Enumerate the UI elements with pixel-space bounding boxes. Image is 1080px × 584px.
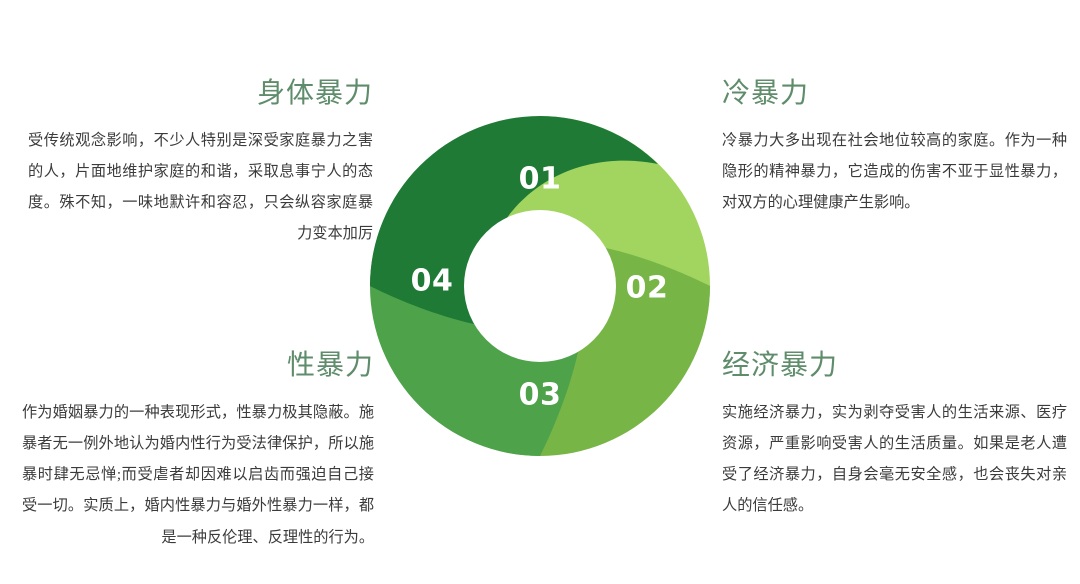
- section-economic-violence-heading: 经济暴力: [722, 348, 1067, 383]
- section-sexual-violence: 性暴力 作为婚姻暴力的一种表现形式，性暴力极其隐蔽。施暴者无一例外地认为婚内性行…: [22, 348, 374, 553]
- pinwheel-svg: 01 02 03 04: [362, 108, 718, 464]
- pinwheel-diagram: 01 02 03 04: [362, 108, 718, 464]
- pinwheel-hub: [464, 210, 616, 362]
- petal-label-03: 03: [519, 378, 562, 413]
- section-physical-violence: 身体暴力 受传统观念影响，不少人特别是深受家庭暴力之害的人，片面地维护家庭的和谐…: [28, 76, 373, 250]
- section-cold-violence-heading: 冷暴力: [722, 76, 1067, 111]
- section-cold-violence: 冷暴力 冷暴力大多出现在社会地位较高的家庭。作为一种隐形的精神暴力，它造成的伤害…: [722, 76, 1067, 218]
- section-physical-violence-heading: 身体暴力: [28, 76, 373, 111]
- petal-label-04: 04: [411, 264, 454, 299]
- section-sexual-violence-heading: 性暴力: [22, 348, 374, 383]
- section-economic-violence-body: 实施经济暴力，实为剥夺受害人的生活来源、医疗资源，严重影响受害人的生活质量。如果…: [722, 397, 1067, 522]
- section-economic-violence: 经济暴力 实施经济暴力，实为剥夺受害人的生活来源、医疗资源，严重影响受害人的生活…: [722, 348, 1067, 522]
- section-physical-violence-body: 受传统观念影响，不少人特别是深受家庭暴力之害的人，片面地维护家庭的和谐，采取息事…: [28, 125, 373, 250]
- infographic-root: 身体暴力 受传统观念影响，不少人特别是深受家庭暴力之害的人，片面地维护家庭的和谐…: [0, 0, 1080, 584]
- section-sexual-violence-body: 作为婚姻暴力的一种表现形式，性暴力极其隐蔽。施暴者无一例外地认为婚内性行为受法律…: [22, 397, 374, 553]
- petal-label-02: 02: [626, 271, 669, 306]
- petal-label-01: 01: [519, 162, 562, 197]
- section-cold-violence-body: 冷暴力大多出现在社会地位较高的家庭。作为一种隐形的精神暴力，它造成的伤害不亚于显…: [722, 125, 1067, 218]
